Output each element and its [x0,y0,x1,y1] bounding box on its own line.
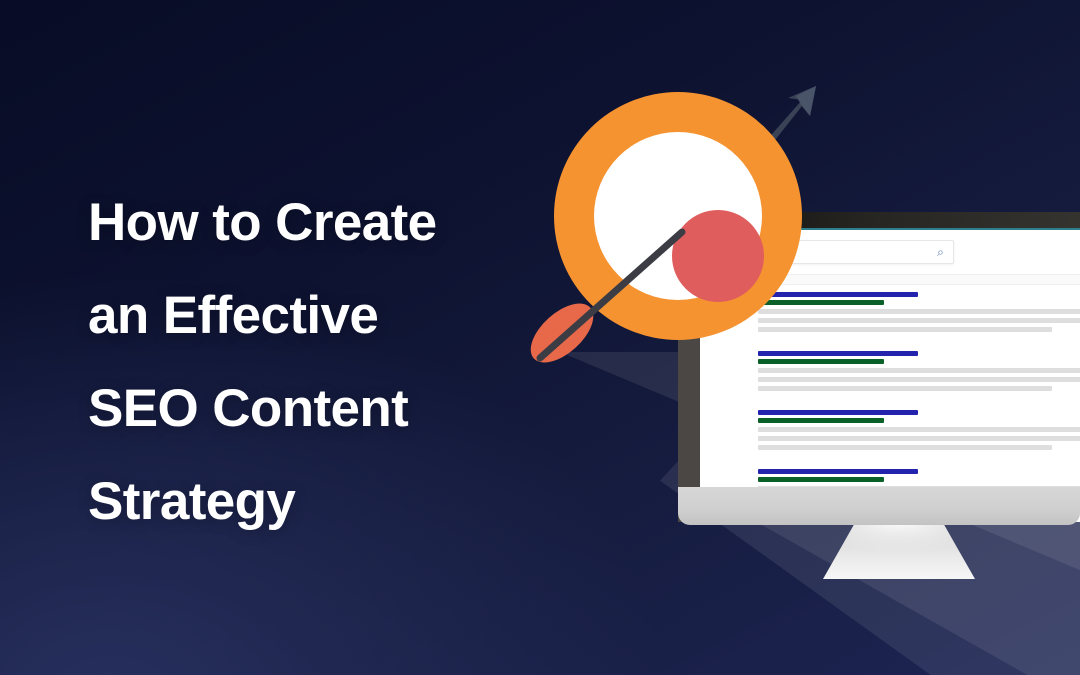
headline-line-2: an Effective [88,269,558,362]
result-title-bar [758,351,918,356]
result-snippet-line [758,427,1080,432]
result-snippet-line [758,318,1080,323]
headline-line-1: How to Create [88,176,558,269]
monitor-base [678,487,1080,525]
result-snippet-line [758,309,1080,314]
headline-line-4: Strategy [88,455,558,548]
result-url-bar [758,300,884,305]
result-snippet-line [758,445,1052,450]
result-snippet-line [758,327,1052,332]
result-title-bar [758,292,918,297]
list-item[interactable] [700,351,1080,391]
result-title-bar [758,410,918,415]
result-url-bar [758,477,884,482]
result-url-bar [758,359,884,364]
poster-canvas: ⌕ [0,0,1080,675]
result-snippet-line [758,386,1052,391]
headline-line-3: SEO Content [88,362,558,455]
result-title-bar [758,469,918,474]
search-icon[interactable]: ⌕ [934,246,947,259]
result-snippet-line [758,436,1080,441]
result-url-bar [758,418,884,423]
page-title: How to Create an Effective SEO Content S… [88,176,558,548]
result-snippet-line [758,377,1080,382]
list-item[interactable] [700,410,1080,450]
result-snippet-line [758,368,1080,373]
